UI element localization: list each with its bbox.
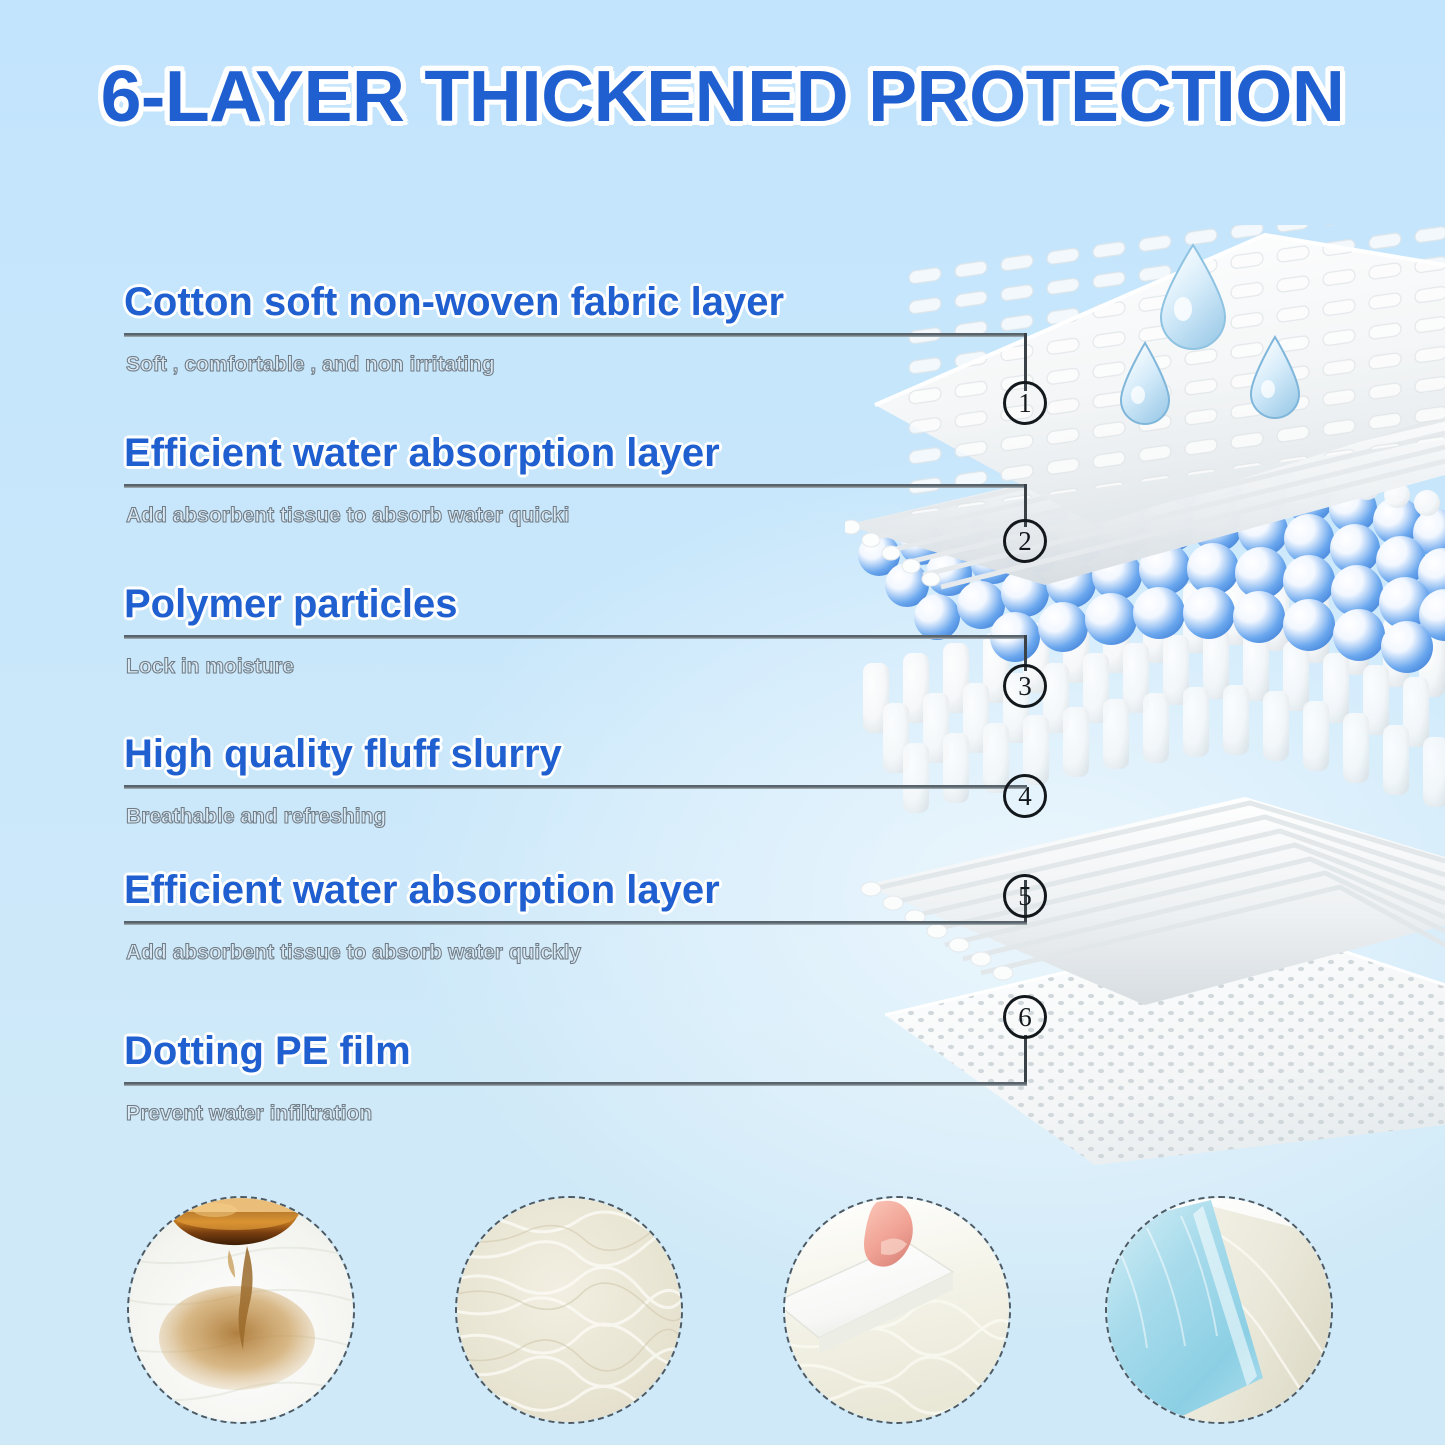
layer-4-subtitle: Breathable and refreshing — [126, 805, 386, 829]
exploded-layer-illustration — [845, 225, 1445, 1165]
layer-2-subtitle: Add absorbent tissue to absorb water qui… — [126, 504, 569, 528]
layer-3-polymer-particles — [858, 448, 1445, 673]
layer-3-subtitle: Lock in moisture — [126, 655, 294, 679]
layer-entry-2: Efficient water absorption layer Add abs… — [124, 432, 720, 474]
layer-entry-6: Dotting PE film Prevent water infiltrati… — [124, 1030, 411, 1072]
layer-4-number-badge: 4 — [1003, 774, 1047, 818]
photo-2-image — [457, 1198, 681, 1422]
layer-5-ribbed-tissue — [861, 797, 1445, 1005]
layer-entry-5: Efficient water absorption layer Add abs… — [124, 869, 720, 911]
layer-6-connector — [1024, 1035, 1027, 1082]
layer-6-rule — [124, 1082, 1027, 1086]
layer-5-number-badge: 5 — [1003, 874, 1047, 918]
layer-2-number-badge: 2 — [1003, 519, 1047, 563]
layer-2-rule — [124, 484, 1027, 488]
photo-1-image — [129, 1198, 353, 1422]
layer-entry-3: Polymer particles Lock in moisture — [124, 583, 458, 625]
layer-2-title: Efficient water absorption layer — [124, 432, 720, 474]
photo-finger-pressing-pad — [783, 1196, 1011, 1424]
layer-6-dotted-pe-film — [885, 925, 1445, 1165]
layer-entry-1: Cotton soft non-woven fabric layer Soft … — [124, 281, 784, 323]
layer-1-rule — [124, 333, 1027, 337]
layer-entry-4: High quality fluff slurry Breathable and… — [124, 733, 562, 775]
layer-5-subtitle: Add absorbent tissue to absorb water qui… — [126, 941, 581, 965]
layer-1-subtitle: Soft , comfortable , and non irritating — [126, 353, 495, 377]
layer-4-title: High quality fluff slurry — [124, 733, 562, 775]
photo-liquid-absorption-test — [127, 1196, 355, 1424]
photo-3-image — [785, 1198, 1009, 1422]
product-infographic: 6-LAYER THICKENED PROTECTION — [0, 0, 1445, 1445]
photo-fluff-pulp-texture — [455, 1196, 683, 1424]
layer-6-subtitle: Prevent water infiltration — [126, 1102, 372, 1126]
photo-4-image — [1107, 1198, 1331, 1422]
water-droplet-icons — [1121, 245, 1299, 424]
layer-1-number-badge: 1 — [1003, 381, 1047, 425]
feature-photo-row — [0, 1188, 1445, 1438]
photo-blue-pe-film-edge — [1105, 1196, 1333, 1424]
layer-3-number-badge: 3 — [1003, 664, 1047, 708]
layer-4-fluff-columns — [863, 575, 1445, 813]
layer-3-rule — [124, 635, 1027, 639]
layer-1-title: Cotton soft non-woven fabric layer — [124, 281, 784, 323]
layer-4-rule — [124, 785, 1027, 789]
layer-6-number-badge: 6 — [1003, 995, 1047, 1039]
layer-6-title: Dotting PE film — [124, 1030, 411, 1072]
layer-5-title: Efficient water absorption layer — [124, 869, 720, 911]
layer-3-title: Polymer particles — [124, 583, 458, 625]
layer-5-rule — [124, 921, 1027, 925]
layer-1-dimpled-top-sheet — [875, 225, 1445, 525]
page-title: 6-LAYER THICKENED PROTECTION — [0, 56, 1445, 138]
